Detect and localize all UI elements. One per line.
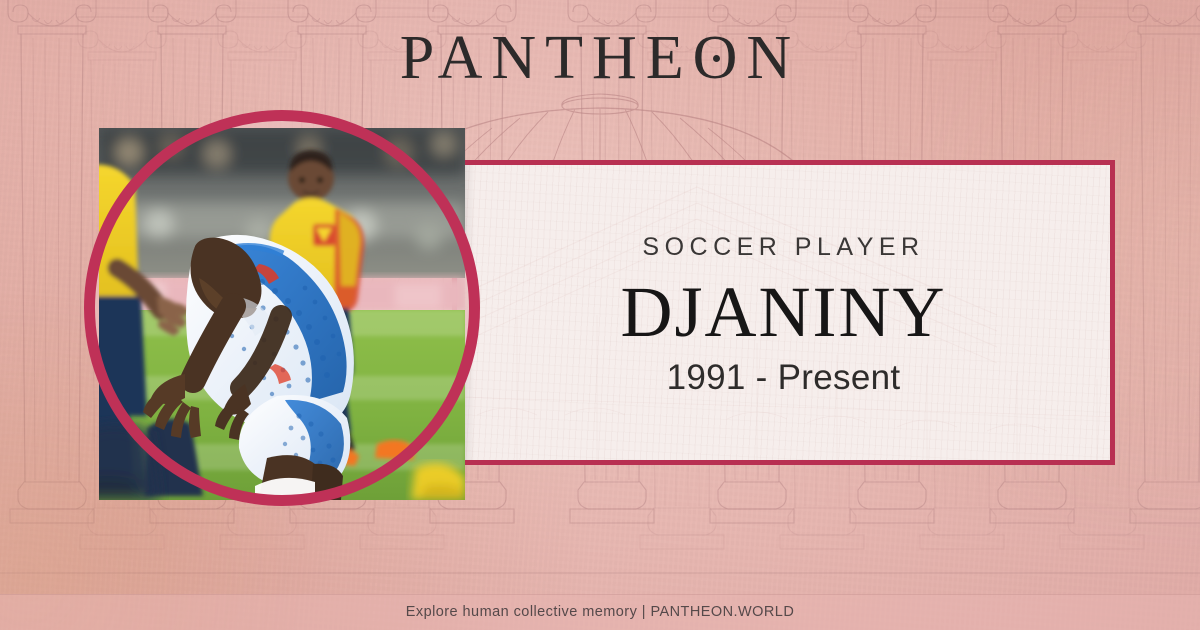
portrait-block[interactable]	[99, 128, 465, 500]
pantheon-social-card: PANTHEON SOCCER PLAYER DJANINY 1991 -	[0, 0, 1200, 630]
logo-letter-o-glyph: O	[693, 24, 747, 92]
circle-dot-icon	[713, 55, 720, 62]
brand-logo[interactable]: PANTHEON	[0, 27, 1200, 89]
logo-text-part1: PANTHE	[400, 24, 693, 92]
footer-bar: Explore human collective memory | PANTHE…	[0, 594, 1200, 630]
logo-text: PANTHEON	[400, 27, 800, 89]
footer-text[interactable]: Explore human collective memory | PANTHE…	[406, 604, 795, 620]
occupation-label: SOCCER PLAYER	[642, 233, 924, 262]
lifespan-label: 1991 - Present	[667, 358, 901, 398]
person-info-card: SOCCER PLAYER DJANINY 1991 - Present	[452, 160, 1115, 465]
portrait-circle-ring	[84, 110, 480, 506]
person-name: DJANINY	[621, 276, 947, 349]
logo-text-part2: N	[746, 24, 800, 92]
logo-letter-o: O	[693, 27, 747, 89]
